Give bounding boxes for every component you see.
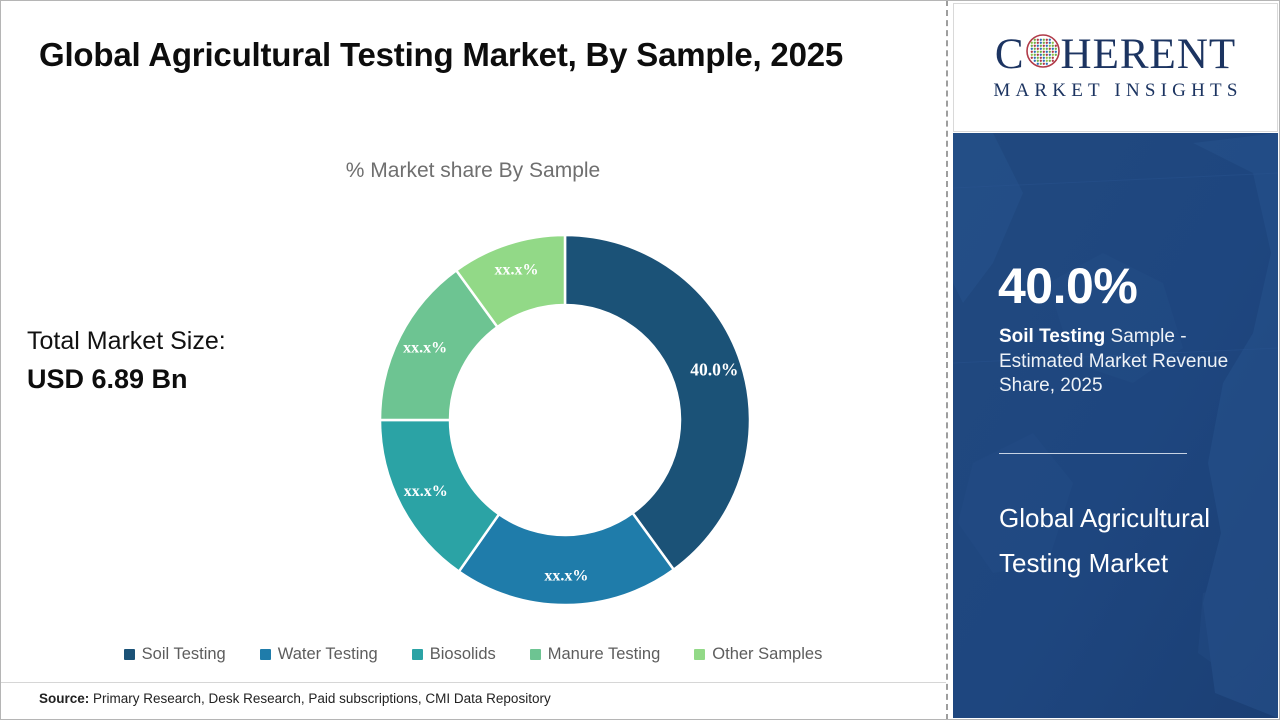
legend-swatch-icon (124, 649, 135, 660)
source-label: Source: (39, 691, 89, 706)
legend-label: Soil Testing (142, 645, 226, 664)
donut-slices (380, 235, 750, 605)
donut-label-other-samples: xx.x% (495, 261, 539, 278)
highlight-panel-title: Global Agricultural Testing Market (999, 496, 1249, 586)
brand-letter-c: C (995, 33, 1025, 76)
donut-chart-svg: 40.0%xx.x%xx.x%xx.x%xx.x% (370, 225, 760, 615)
legend-label: Other Samples (712, 645, 822, 664)
legend-swatch-icon (530, 649, 541, 660)
legend-item-manure-testing[interactable]: Manure Testing (530, 645, 661, 664)
donut-label-manure-testing: xx.x% (403, 339, 447, 356)
infographic-page: Global Agricultural Testing Market, By S… (0, 0, 1280, 720)
highlight-description-bold: Soil Testing (999, 326, 1105, 347)
page-title: Global Agricultural Testing Market, By S… (39, 30, 879, 80)
legend-label: Biosolids (430, 645, 496, 664)
source-text: Primary Research, Desk Research, Paid su… (93, 691, 551, 706)
legend-item-biosolids[interactable]: Biosolids (412, 645, 496, 664)
left-content-area: Global Agricultural Testing Market, By S… (0, 0, 946, 720)
donut-label-water-testing: xx.x% (544, 568, 588, 585)
brand-letters-herent: HERENT (1061, 33, 1237, 76)
legend-label: Manure Testing (548, 645, 661, 664)
donut-label-soil-testing: 40.0% (690, 360, 738, 380)
chart-subtitle: % Market share By Sample (0, 159, 946, 183)
source-note: Source: Primary Research, Desk Research,… (39, 691, 551, 706)
highlight-panel-content: 40.0% Soil Testing Sample - Estimated Ma… (953, 133, 1278, 718)
total-market-size-label: Total Market Size: (27, 322, 327, 360)
donut-label-biosolids: xx.x% (404, 483, 448, 500)
legend-item-soil-testing[interactable]: Soil Testing (124, 645, 226, 664)
brand-logo: C HERENT MARKET INSIGHTS (953, 3, 1278, 132)
legend-label: Water Testing (278, 645, 378, 664)
right-sidebar: C HERENT MARKET INSIGHTS (953, 0, 1280, 720)
legend-swatch-icon (260, 649, 271, 660)
highlight-description: Soil Testing Sample - Estimated Market R… (999, 325, 1239, 399)
source-bar: Source: Primary Research, Desk Research,… (0, 682, 946, 720)
legend-item-other-samples[interactable]: Other Samples (694, 645, 822, 664)
highlight-percentage: 40.0% (998, 261, 1137, 311)
donut-chart: 40.0%xx.x%xx.x%xx.x%xx.x% (370, 225, 760, 615)
legend-item-water-testing[interactable]: Water Testing (260, 645, 378, 664)
brand-wordmark: C HERENT (995, 33, 1236, 76)
legend-swatch-icon (694, 649, 705, 660)
highlight-panel: 40.0% Soil Testing Sample - Estimated Ma… (953, 133, 1278, 718)
donut-slice-soil-testing[interactable] (565, 235, 750, 570)
globe-icon (1026, 33, 1060, 76)
total-market-size-value: USD 6.89 Bn (27, 360, 327, 398)
legend-swatch-icon (412, 649, 423, 660)
vertical-divider (946, 0, 948, 720)
chart-legend: Soil TestingWater TestingBiosolidsManure… (0, 645, 946, 664)
total-market-size: Total Market Size: USD 6.89 Bn (27, 322, 327, 398)
brand-tagline: MARKET INSIGHTS (988, 80, 1242, 102)
divider-rule (999, 453, 1187, 454)
